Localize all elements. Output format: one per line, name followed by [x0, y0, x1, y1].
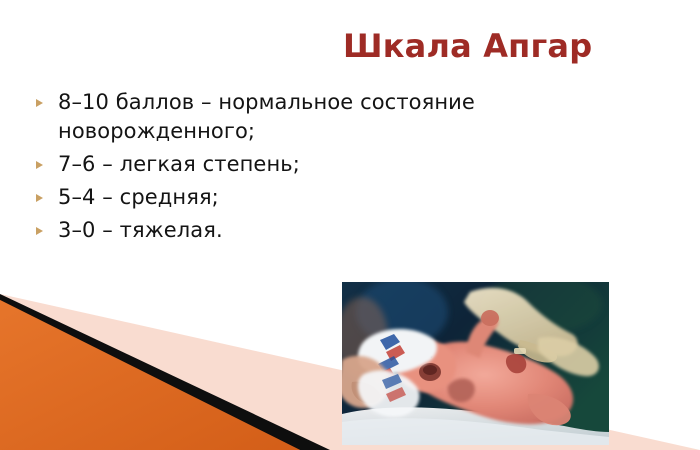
list-item-label: 8–10 баллов – нормальное состояние новор…	[58, 88, 516, 146]
newborn-photo-illustration	[342, 282, 609, 445]
triangle-right-bullet-icon	[36, 88, 58, 107]
list-item: 8–10 баллов – нормальное состояние новор…	[36, 88, 516, 146]
list-item: 7–6 – легкая степень;	[36, 150, 516, 179]
triangle-right-bullet-icon	[36, 183, 58, 202]
bullet-list: 8–10 баллов – нормальное состояние новор…	[36, 88, 516, 249]
orange-diagonal-wedge	[0, 300, 300, 450]
newborn-photo	[342, 282, 609, 445]
list-item-label: 7–6 – легкая степень;	[58, 150, 516, 179]
list-item: 3–0 – тяжелая.	[36, 216, 516, 245]
triangle-right-bullet-icon	[36, 216, 58, 235]
list-item-label: 3–0 – тяжелая.	[58, 216, 516, 245]
page-title: Шкала Апгар	[343, 26, 673, 66]
slide-canvas: Шкала Апгар 8–10 баллов – нормальное сос…	[0, 0, 700, 450]
list-item-label: 5–4 – средняя;	[58, 183, 516, 212]
triangle-right-bullet-icon	[36, 150, 58, 169]
list-item: 5–4 – средняя;	[36, 183, 516, 212]
black-diagonal-stripe	[0, 294, 330, 450]
orange-gradient-overlay	[0, 300, 300, 450]
